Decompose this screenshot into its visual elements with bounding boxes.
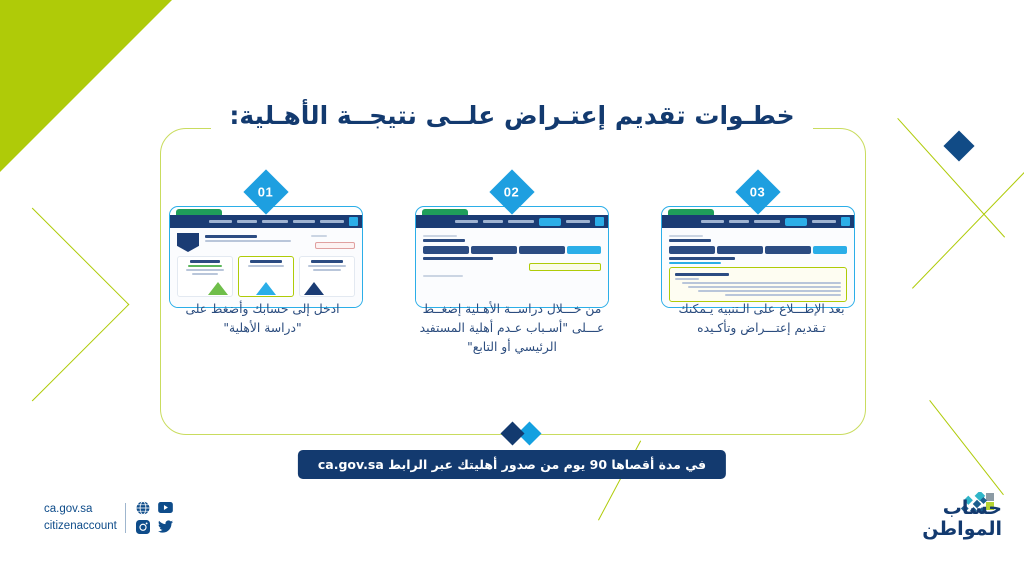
mock-service-card: [299, 256, 355, 297]
step-card-03: 03: [662, 176, 854, 308]
step-screenshot-01: [169, 206, 363, 308]
step-number-03: 03: [750, 185, 765, 200]
brand-line-2: المواطن: [874, 519, 1002, 540]
lime-accent-line-2: [912, 151, 1024, 289]
infographic-canvas: خطـوات تقديم إعتـراض علــى نتيجــة الأهـ…: [0, 0, 1024, 576]
nav-item: [812, 220, 836, 223]
mock-tab: [423, 246, 469, 254]
footer-handle: citizenaccount: [44, 518, 117, 535]
mock-tab: [471, 246, 517, 254]
mock-tab-active: [567, 246, 601, 254]
lime-accent-line-1: [897, 118, 1005, 238]
nav-item: [508, 220, 534, 223]
nav-item: [483, 220, 503, 223]
navy-diamond-icon: [500, 421, 524, 445]
nav-item: [754, 220, 780, 223]
step-badge-wrap-02: 02: [416, 176, 608, 190]
mock-navbar: [170, 215, 362, 228]
step-screenshot-03: [661, 206, 855, 308]
nav-item: [729, 220, 749, 223]
nav-item: [209, 220, 232, 223]
social-divider: [125, 503, 126, 533]
step-caption-03: بعد الإطـــلاع على الـتنبيه يـمكنك تـقدي…: [669, 300, 854, 357]
page-title-text: خطـوات تقديم إعتـراض علــى نتيجــة الأهـ…: [211, 100, 812, 131]
mock-page-body: [662, 228, 854, 307]
mock-card-triangle: [256, 282, 276, 295]
step-number-01: 01: [258, 185, 273, 200]
step-caption-02: من خـــلال دراســة الأهـلية إضغــط عـــل…: [420, 300, 605, 357]
frame-diamond-pair: [494, 421, 550, 445]
social-handles: ca.gov.sa citizenaccount: [44, 501, 117, 534]
step-card-02: 02: [416, 176, 608, 308]
mock-card-triangle: [208, 282, 228, 295]
steps-row: 03: [170, 176, 854, 406]
mock-navbar: [416, 215, 608, 228]
mock-navbar: [662, 215, 854, 228]
nav-item: [566, 220, 590, 223]
nav-logo-square: [595, 217, 604, 226]
mock-highlighted-box: [669, 267, 847, 302]
nav-logo-square: [349, 217, 358, 226]
step-badge-wrap-03: 03: [662, 176, 854, 190]
brand-logo: حساب المواطن: [872, 492, 1002, 548]
mock-service-card-highlighted: [238, 256, 294, 297]
globe-icon[interactable]: [135, 500, 152, 515]
nav-item: [701, 220, 724, 223]
brand-line-1: حساب: [874, 498, 1002, 519]
footer-website: ca.gov.sa: [44, 501, 117, 518]
step-screenshot-02: [415, 206, 609, 308]
mock-tabbar: [423, 246, 601, 254]
instagram-icon[interactable]: [135, 519, 152, 534]
step-caption-01: ادخل إلى حسابك وأضغط على "دراسة الأهلية": [170, 300, 355, 357]
mock-page-body: [170, 228, 362, 307]
mock-page-body: [416, 228, 608, 307]
step-badge-wrap-01: 01: [170, 176, 362, 190]
nav-item: [455, 220, 478, 223]
mock-tab-active: [813, 246, 847, 254]
mock-highlighted-link: [529, 263, 601, 271]
social-footer: ca.gov.sa citizenaccount: [44, 500, 174, 535]
page-title: خطـوات تقديم إعتـراض علــى نتيجــة الأهـ…: [0, 100, 1024, 131]
step-card-01: 01: [170, 176, 362, 308]
lime-accent-line-4: [929, 400, 1004, 495]
youtube-icon[interactable]: [157, 500, 174, 515]
mock-tab: [669, 246, 715, 254]
deadline-banner: في مدة أقصاها 90 يوم من صدور أهليتك عبر …: [298, 450, 726, 479]
lime-corner-triangle: [0, 0, 172, 172]
nav-item-active: [785, 218, 807, 226]
nav-logo-square: [841, 217, 850, 226]
mock-card-triangle: [304, 282, 324, 295]
social-icon-grid: [134, 500, 174, 535]
captions-row: بعد الإطـــلاع على الـتنبيه يـمكنك تـقدي…: [170, 300, 854, 357]
nav-item: [262, 220, 288, 223]
brand-logo-text: حساب المواطن: [874, 498, 1002, 539]
twitter-icon[interactable]: [157, 519, 174, 534]
mock-tabbar: [669, 246, 847, 254]
nav-item: [237, 220, 257, 223]
mock-hex-emblem: [177, 233, 199, 252]
lime-chevron-outline: [0, 208, 129, 402]
mock-service-cards: [177, 256, 355, 297]
nav-item: [320, 220, 344, 223]
mock-tab: [765, 246, 811, 254]
mock-status-pill: [315, 242, 355, 249]
step-number-02: 02: [504, 185, 519, 200]
nav-item-active: [539, 218, 561, 226]
navy-diamond-decoration: [943, 130, 974, 161]
mock-tab: [519, 246, 565, 254]
mock-service-card: [177, 256, 233, 297]
mock-tab: [717, 246, 763, 254]
nav-item: [293, 220, 315, 223]
mock-account-header: [177, 233, 355, 252]
